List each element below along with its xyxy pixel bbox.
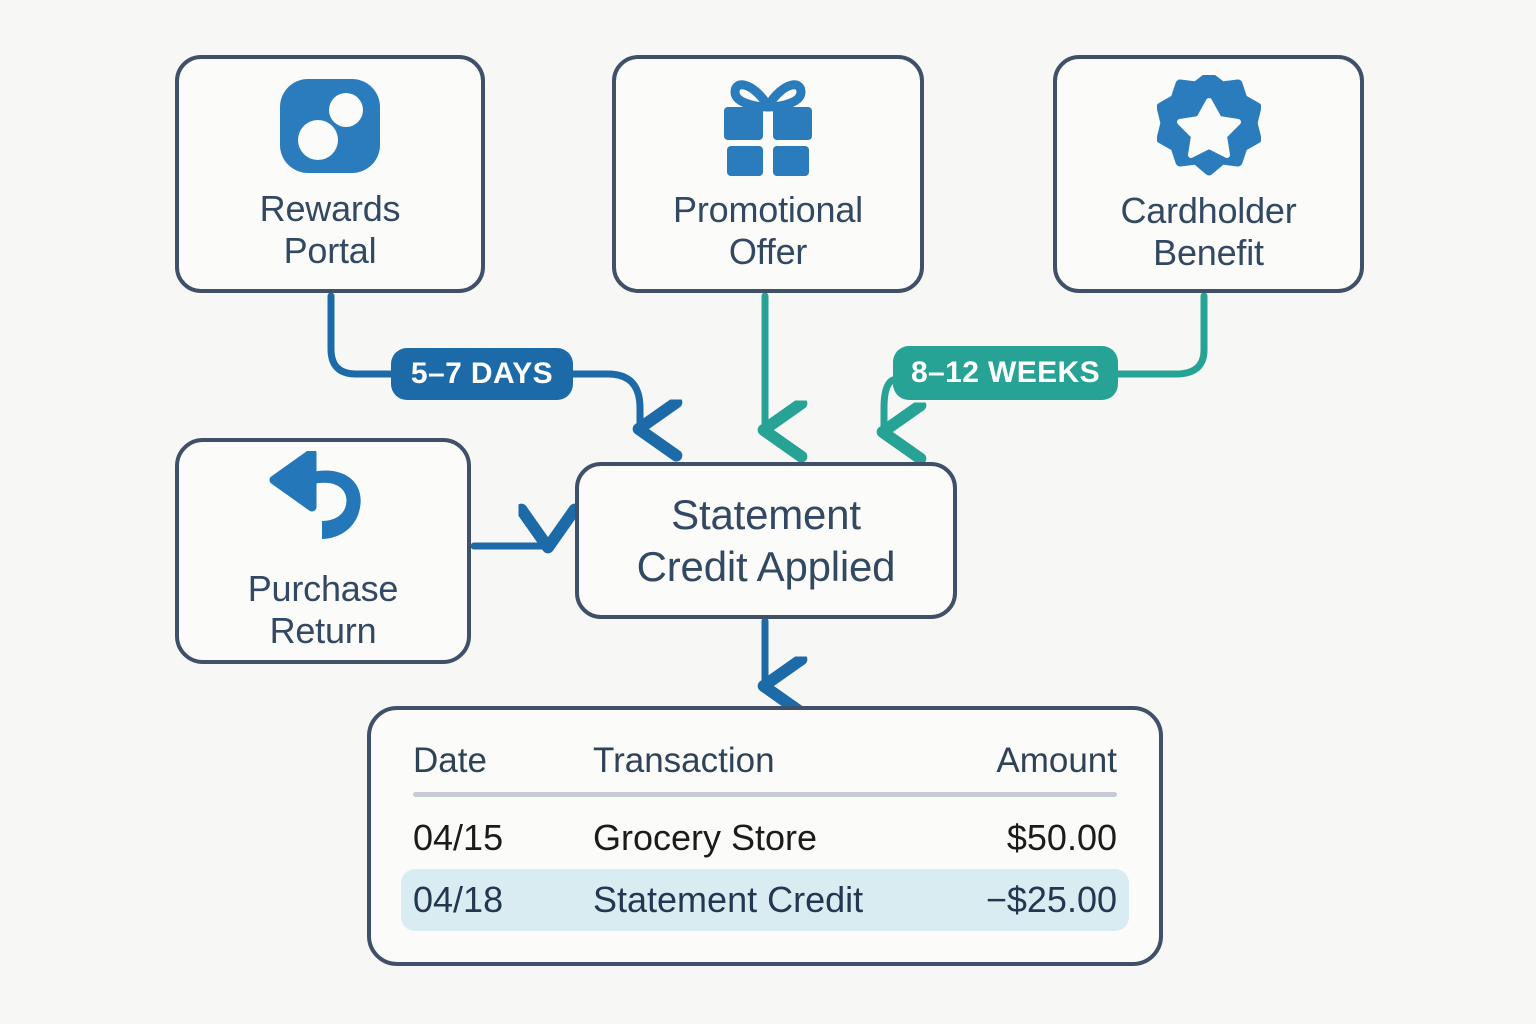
connector-benefit-to-center xyxy=(1118,296,1204,374)
cell-amount: $50.00 xyxy=(897,817,1117,859)
duration-badge-weeks: 8–12 WEEKS xyxy=(893,346,1118,400)
duration-badge-days: 5–7 DAYS xyxy=(391,348,573,400)
table-header-row: Date Transaction Amount xyxy=(401,732,1129,790)
badge-star-icon xyxy=(1157,75,1261,182)
table-header-divider xyxy=(413,792,1117,797)
cell-transaction: Grocery Store xyxy=(593,817,897,859)
connector-rewards-to-center xyxy=(331,296,391,374)
cell-date: 04/18 xyxy=(413,879,593,921)
node-statement-credit-applied[interactable]: Statement Credit Applied xyxy=(575,462,957,619)
node-label: Statement Credit Applied xyxy=(637,489,896,591)
node-label: Purchase Return xyxy=(248,568,399,652)
table-row: 04/18 Statement Credit −$25.00 xyxy=(401,869,1129,931)
node-label: Rewards Portal xyxy=(260,188,401,272)
column-header-date: Date xyxy=(413,741,593,781)
node-rewards-portal[interactable]: Rewards Portal xyxy=(175,55,485,293)
diagram-canvas: Rewards Portal Promotional Offer Cardhol… xyxy=(0,0,1536,1024)
node-promotional-offer[interactable]: Promotional Offer xyxy=(612,55,924,293)
duration-badge-weeks-label: 8–12 WEEKS xyxy=(911,356,1100,390)
connector-benefit-to-center-tail xyxy=(884,380,893,432)
cell-transaction: Statement Credit xyxy=(593,879,897,921)
node-label: Cardholder Benefit xyxy=(1120,190,1296,274)
column-header-transaction: Transaction xyxy=(593,741,897,781)
cell-date: 04/15 xyxy=(413,817,593,859)
connector-rewards-to-center-tail xyxy=(573,374,640,429)
return-arrow-icon xyxy=(268,451,378,560)
duration-badge-days-label: 5–7 DAYS xyxy=(411,357,553,391)
node-purchase-return[interactable]: Purchase Return xyxy=(175,438,471,664)
node-cardholder-benefit[interactable]: Cardholder Benefit xyxy=(1053,55,1364,293)
column-header-amount: Amount xyxy=(897,741,1117,781)
rewards-points-icon xyxy=(278,77,382,180)
table-row: 04/15 Grocery Store $50.00 xyxy=(401,807,1129,869)
statement-table-card: Date Transaction Amount 04/15 Grocery St… xyxy=(367,706,1163,966)
gift-box-icon xyxy=(709,76,827,181)
cell-amount: −$25.00 xyxy=(897,879,1117,921)
node-label: Promotional Offer xyxy=(673,189,863,273)
